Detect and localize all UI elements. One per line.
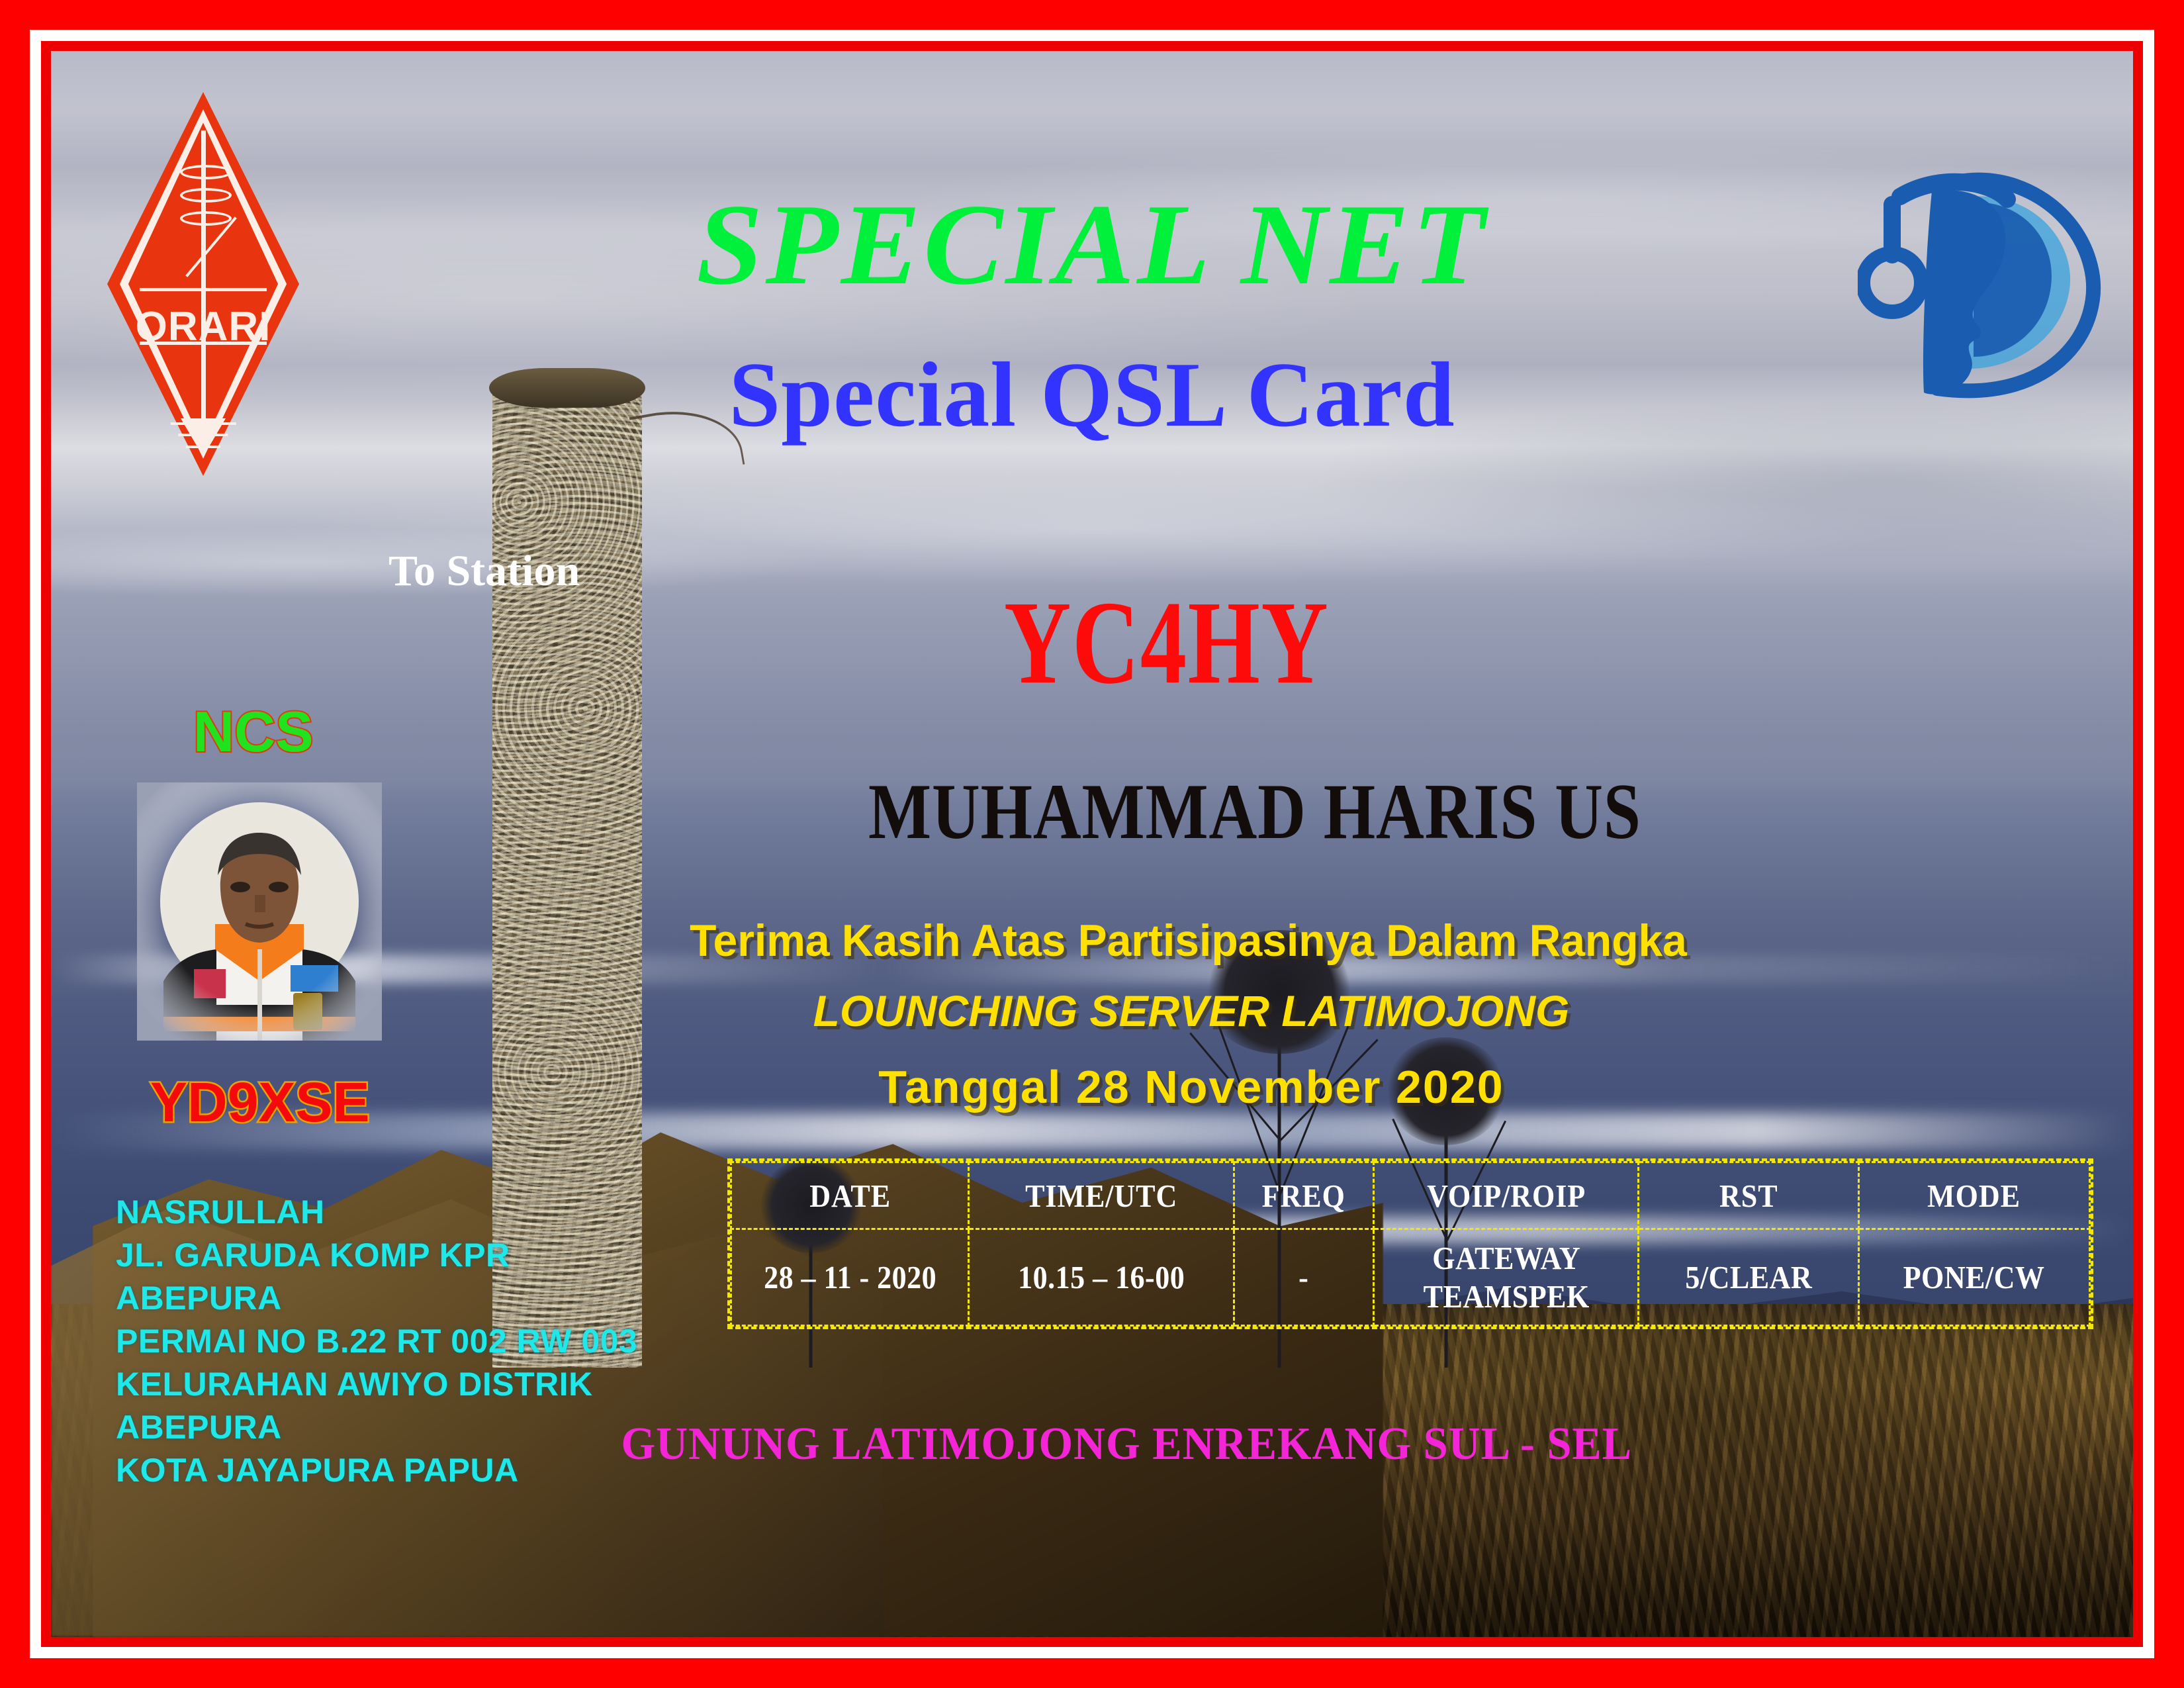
station-callsign: YC4HY: [1004, 574, 1329, 711]
date-line-wrap: Tanggal 28 November 2020: [51, 1060, 2133, 1113]
card-photo-area: ORARI SPECIAL NET Special QSL Card To St…: [51, 51, 2133, 1637]
slogan-text: "AMATIR RADIO ADALAH PROGRESIVE": [129, 1634, 1022, 1637]
qso-table: DATE TIME/UTC FREQ VOIP/ROIP RST MODE 28…: [727, 1158, 2093, 1329]
address-line: NASRULLAH: [116, 1191, 637, 1234]
address-line: PERMAI NO B.22 RT 002 RW 003: [116, 1320, 637, 1363]
website-address: Address : amatir.latimojong.com: [1328, 1633, 1966, 1637]
table-row: 28 – 11 - 2020 10.15 – 16-00 - GATEWAY T…: [731, 1229, 2090, 1326]
qsl-card: ORARI SPECIAL NET Special QSL Card To St…: [0, 0, 2184, 1688]
page-title: SPECIAL NET: [51, 187, 2133, 303]
place-line: GUNUNG LATIMOJONG ENREKANG SUL - SEL: [621, 1419, 1632, 1470]
cell-date: 28 – 11 - 2020: [743, 1229, 956, 1326]
place-line-wrap: GUNUNG LATIMOJONG ENREKANG SUL - SEL: [103, 1418, 2081, 1471]
ncs-label: NCS: [193, 700, 314, 765]
cell-voip-roip-line2: TEAMSPEK: [1388, 1278, 1624, 1316]
page-subtitle: Special QSL Card: [51, 349, 2133, 442]
column-header-voip-roip: VOIP/ROIP: [1387, 1162, 1625, 1229]
event-line-wrap: LOUNCHING SERVER LATIMOJONG: [51, 986, 2133, 1036]
date-line: Tanggal 28 November 2020: [878, 1061, 1504, 1113]
column-header-date: DATE: [743, 1162, 956, 1229]
address-line: ABEPURA: [116, 1277, 637, 1320]
address-line: KELURAHAN AWIYO DISTRIK: [116, 1363, 637, 1406]
column-header-freq: FREQ: [1241, 1162, 1367, 1229]
cell-voip-roip-line1: GATEWAY: [1388, 1239, 1624, 1278]
thanks-line-wrap: Terima Kasih Atas Partisipasinya Dalam R…: [82, 915, 2102, 966]
sky-clouds: [51, 51, 2133, 876]
cell-rst: 5/CLEAR: [1650, 1229, 1848, 1326]
orari-bar-bottom: [140, 342, 266, 345]
event-line: LOUNCHING SERVER LATIMOJONG: [813, 986, 1570, 1035]
cell-voip-roip: GATEWAY TEAMSPEK: [1387, 1229, 1625, 1326]
thanks-line: Terima Kasih Atas Partisipasinya Dalam R…: [690, 915, 1687, 966]
cell-freq: -: [1241, 1229, 1367, 1326]
orari-coil: [180, 165, 232, 179]
table-header-row: DATE TIME/UTC FREQ VOIP/ROIP RST MODE: [731, 1162, 2090, 1229]
cell-time: 10.15 – 16-00: [982, 1229, 1220, 1326]
address-line: JL. GARUDA KOMP KPR: [116, 1234, 637, 1277]
column-header-rst: RST: [1650, 1162, 1848, 1229]
column-header-time: TIME/UTC: [982, 1162, 1220, 1229]
station-operator-name: MUHAMMAD HARIS US: [868, 766, 1641, 857]
to-station-label: To Station: [388, 546, 580, 596]
cell-mode: PONE/CW: [1870, 1229, 2078, 1326]
column-header-mode: MODE: [1870, 1162, 2078, 1229]
